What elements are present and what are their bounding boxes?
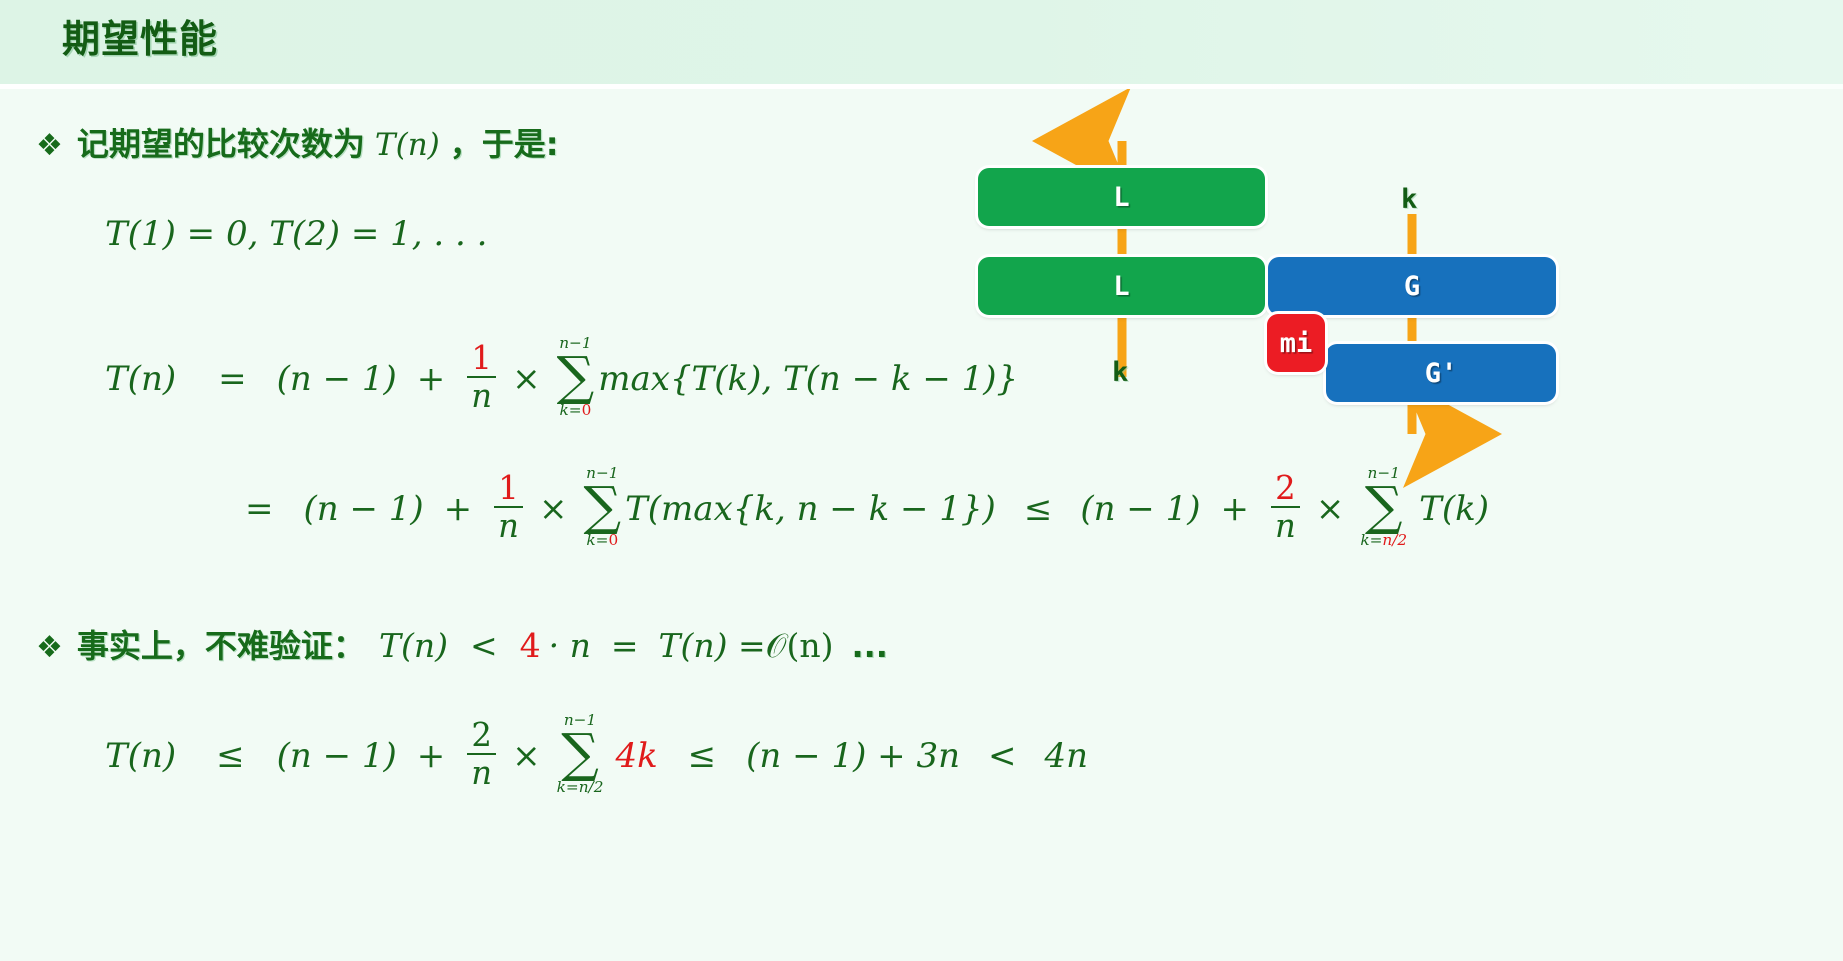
slide-header-band bbox=[0, 0, 1843, 84]
formula-2-fraction: 1 n bbox=[494, 472, 523, 543]
formula-2-fraction-2-denominator: n bbox=[1271, 506, 1300, 542]
formula-2-fraction-denominator: n bbox=[494, 506, 523, 542]
formula-2-body: T(max{k, n − k − 1}) bbox=[625, 489, 996, 529]
formula-final-fraction-numerator: 2 bbox=[467, 719, 496, 753]
formula-final-fraction-denominator: n bbox=[467, 753, 496, 789]
bullet-2-text-a: 事实上，不难 bbox=[77, 621, 269, 667]
bullet-item-2: ❖ 事实上，不难 验证 ： T(n) < 4 · n = T(n) = 𝒪(n)… bbox=[36, 621, 888, 667]
formula-final-leq: ≤ bbox=[216, 736, 245, 776]
sigma-icon: ∑ bbox=[557, 352, 595, 402]
formula-recurrence-line-1: T(n) = (n − 1) + 1 n × n−1 ∑ k=0 max{T(k… bbox=[105, 337, 1018, 421]
formula-2-term2: (n − 1) bbox=[1080, 489, 1200, 529]
formula-2-sum2-lower-limit: k=n/2 bbox=[1360, 532, 1407, 549]
label-k-right-top: k bbox=[1401, 184, 1417, 215]
formula-final-term2: (n − 1) + 3n bbox=[746, 736, 960, 776]
bullet-2-math-tn: T(n) bbox=[379, 626, 448, 665]
formula-2-body2: T(k) bbox=[1419, 489, 1489, 529]
formula-final-summation: n−1 ∑ k=n/2 bbox=[557, 712, 604, 796]
bar-L-bottom-label: L bbox=[1113, 271, 1129, 302]
formula-2-fraction-2: 2 n bbox=[1271, 472, 1300, 543]
formula-2-term1: (n − 1) bbox=[304, 489, 424, 529]
bar-mi: mi bbox=[1267, 314, 1325, 372]
formula-2-summation: n−1 ∑ k=0 bbox=[583, 465, 621, 549]
formula-2-leq: ≤ bbox=[1024, 489, 1053, 529]
bullet-2-text-b: ： bbox=[333, 621, 365, 667]
formula-1-lhs: T(n) bbox=[105, 359, 176, 399]
bar-mi-label: mi bbox=[1280, 328, 1313, 359]
formula-final-plus: + bbox=[417, 736, 446, 776]
formula-base-case-text: T(1) = 0, T(2) = 1, . . . bbox=[105, 214, 487, 254]
formula-2-plus2: + bbox=[1221, 489, 1250, 529]
bullet-diamond-icon: ❖ bbox=[36, 128, 63, 163]
formula-final-less-than: < bbox=[988, 736, 1017, 776]
formula-1-plus: + bbox=[417, 359, 446, 399]
formula-2-sum-lower-var: k= bbox=[586, 531, 608, 549]
label-k-left-bottom-text: k bbox=[1112, 357, 1128, 388]
bullet-2-highlight: 验证 bbox=[269, 621, 333, 667]
formula-2-times2: × bbox=[1316, 489, 1345, 529]
formula-1-summation: n−1 ∑ k=0 bbox=[557, 335, 595, 419]
formula-final-term1: (n − 1) bbox=[277, 736, 397, 776]
formula-1-fraction-denominator: n bbox=[467, 376, 496, 412]
bullet-1-text-after: ，于是: bbox=[450, 119, 559, 165]
bullet-2-dot-n: · n bbox=[549, 626, 591, 665]
bar-G-prime-label: G' bbox=[1425, 358, 1458, 389]
formula-final-times: × bbox=[512, 736, 541, 776]
formula-final-fraction: 2 n bbox=[467, 719, 496, 790]
formula-final-sum-lower-var: k= bbox=[557, 778, 579, 796]
formula-2-sum2-lower-value: n/2 bbox=[1382, 531, 1407, 549]
formula-recurrence-line-2: = (n − 1) + 1 n × n−1 ∑ k=0 T(max{k, n −… bbox=[245, 467, 1489, 551]
bullet-diamond-icon: ❖ bbox=[36, 630, 63, 665]
page-title: 期望性能 bbox=[62, 8, 218, 63]
formula-2-times: × bbox=[539, 489, 568, 529]
formula-1-times: × bbox=[512, 359, 541, 399]
label-k-right-top-text: k bbox=[1401, 184, 1417, 215]
bullet-2-tn-2: T(n) = bbox=[659, 626, 766, 665]
formula-2-sum2-lower-var: k= bbox=[1360, 531, 1382, 549]
bar-L-top: L bbox=[978, 168, 1265, 226]
formula-final-leq2: ≤ bbox=[688, 736, 717, 776]
bar-G-label: G bbox=[1404, 271, 1420, 302]
formula-1-body: max{T(k), T(n − k − 1)} bbox=[598, 359, 1018, 399]
formula-final-sum-lower-limit: k=n/2 bbox=[557, 779, 604, 796]
formula-1-fraction: 1 n bbox=[467, 342, 496, 413]
bar-G-prime: G' bbox=[1326, 344, 1556, 402]
formula-final-lhs: T(n) bbox=[105, 736, 176, 776]
formula-1-term1: (n − 1) bbox=[277, 359, 397, 399]
sigma-icon: ∑ bbox=[561, 729, 599, 779]
bullet-2-constant-four: 4 bbox=[520, 626, 541, 665]
bullet-1-inline-math: T(n) bbox=[375, 127, 440, 163]
formula-base-case: T(1) = 0, T(2) = 1, . . . bbox=[105, 214, 487, 254]
formula-1-sum-lower-var: k= bbox=[559, 401, 581, 419]
bar-L-bottom: L bbox=[978, 257, 1265, 315]
bullet-1-text-before: 记期望的比较次数为 bbox=[77, 119, 365, 165]
formula-2-fraction-numerator: 1 bbox=[494, 472, 523, 506]
formula-1-fraction-numerator: 1 bbox=[467, 342, 496, 376]
formula-2-summation-2: n−1 ∑ k=n/2 bbox=[1360, 465, 1407, 549]
bullet-item-1: ❖ 记期望的比较次数为 T(n) ，于是: bbox=[36, 119, 559, 165]
formula-2-sum-lower-limit: k=0 bbox=[586, 532, 618, 549]
bar-L-top-label: L bbox=[1113, 182, 1129, 213]
bullet-2-equals: = bbox=[611, 626, 639, 665]
sigma-icon: ∑ bbox=[583, 482, 621, 532]
sigma-icon: ∑ bbox=[1365, 482, 1403, 532]
formula-1-sum-lower-limit: k=0 bbox=[559, 402, 591, 419]
formula-2-fraction-2-numerator: 2 bbox=[1271, 472, 1300, 506]
slide-content: ❖ 记期望的比较次数为 T(n) ，于是: T(1) = 0, T(2) = 1… bbox=[0, 89, 1843, 961]
formula-final-term3: 4n bbox=[1044, 736, 1088, 776]
bar-G: G bbox=[1268, 257, 1556, 315]
formula-2-equals: = bbox=[245, 489, 274, 529]
formula-2-plus: + bbox=[444, 489, 473, 529]
formula-2-sum-lower-value: 0 bbox=[608, 531, 618, 549]
bullet-2-big-o: 𝒪(n) bbox=[766, 626, 834, 666]
bullet-2-ellipsis: ... bbox=[851, 627, 887, 665]
formula-final-bound: T(n) ≤ (n − 1) + 2 n × n−1 ∑ k=n/2 4k ≤ … bbox=[105, 714, 1088, 798]
formula-1-equals: = bbox=[218, 359, 247, 399]
label-k-left-bottom: k bbox=[1112, 357, 1128, 388]
formula-final-body: 4k bbox=[615, 736, 657, 776]
formula-1-sum-lower-value: 0 bbox=[582, 401, 592, 419]
formula-final-sum-lower-value: n/2 bbox=[579, 778, 604, 796]
bullet-2-less-than: < bbox=[470, 626, 498, 665]
